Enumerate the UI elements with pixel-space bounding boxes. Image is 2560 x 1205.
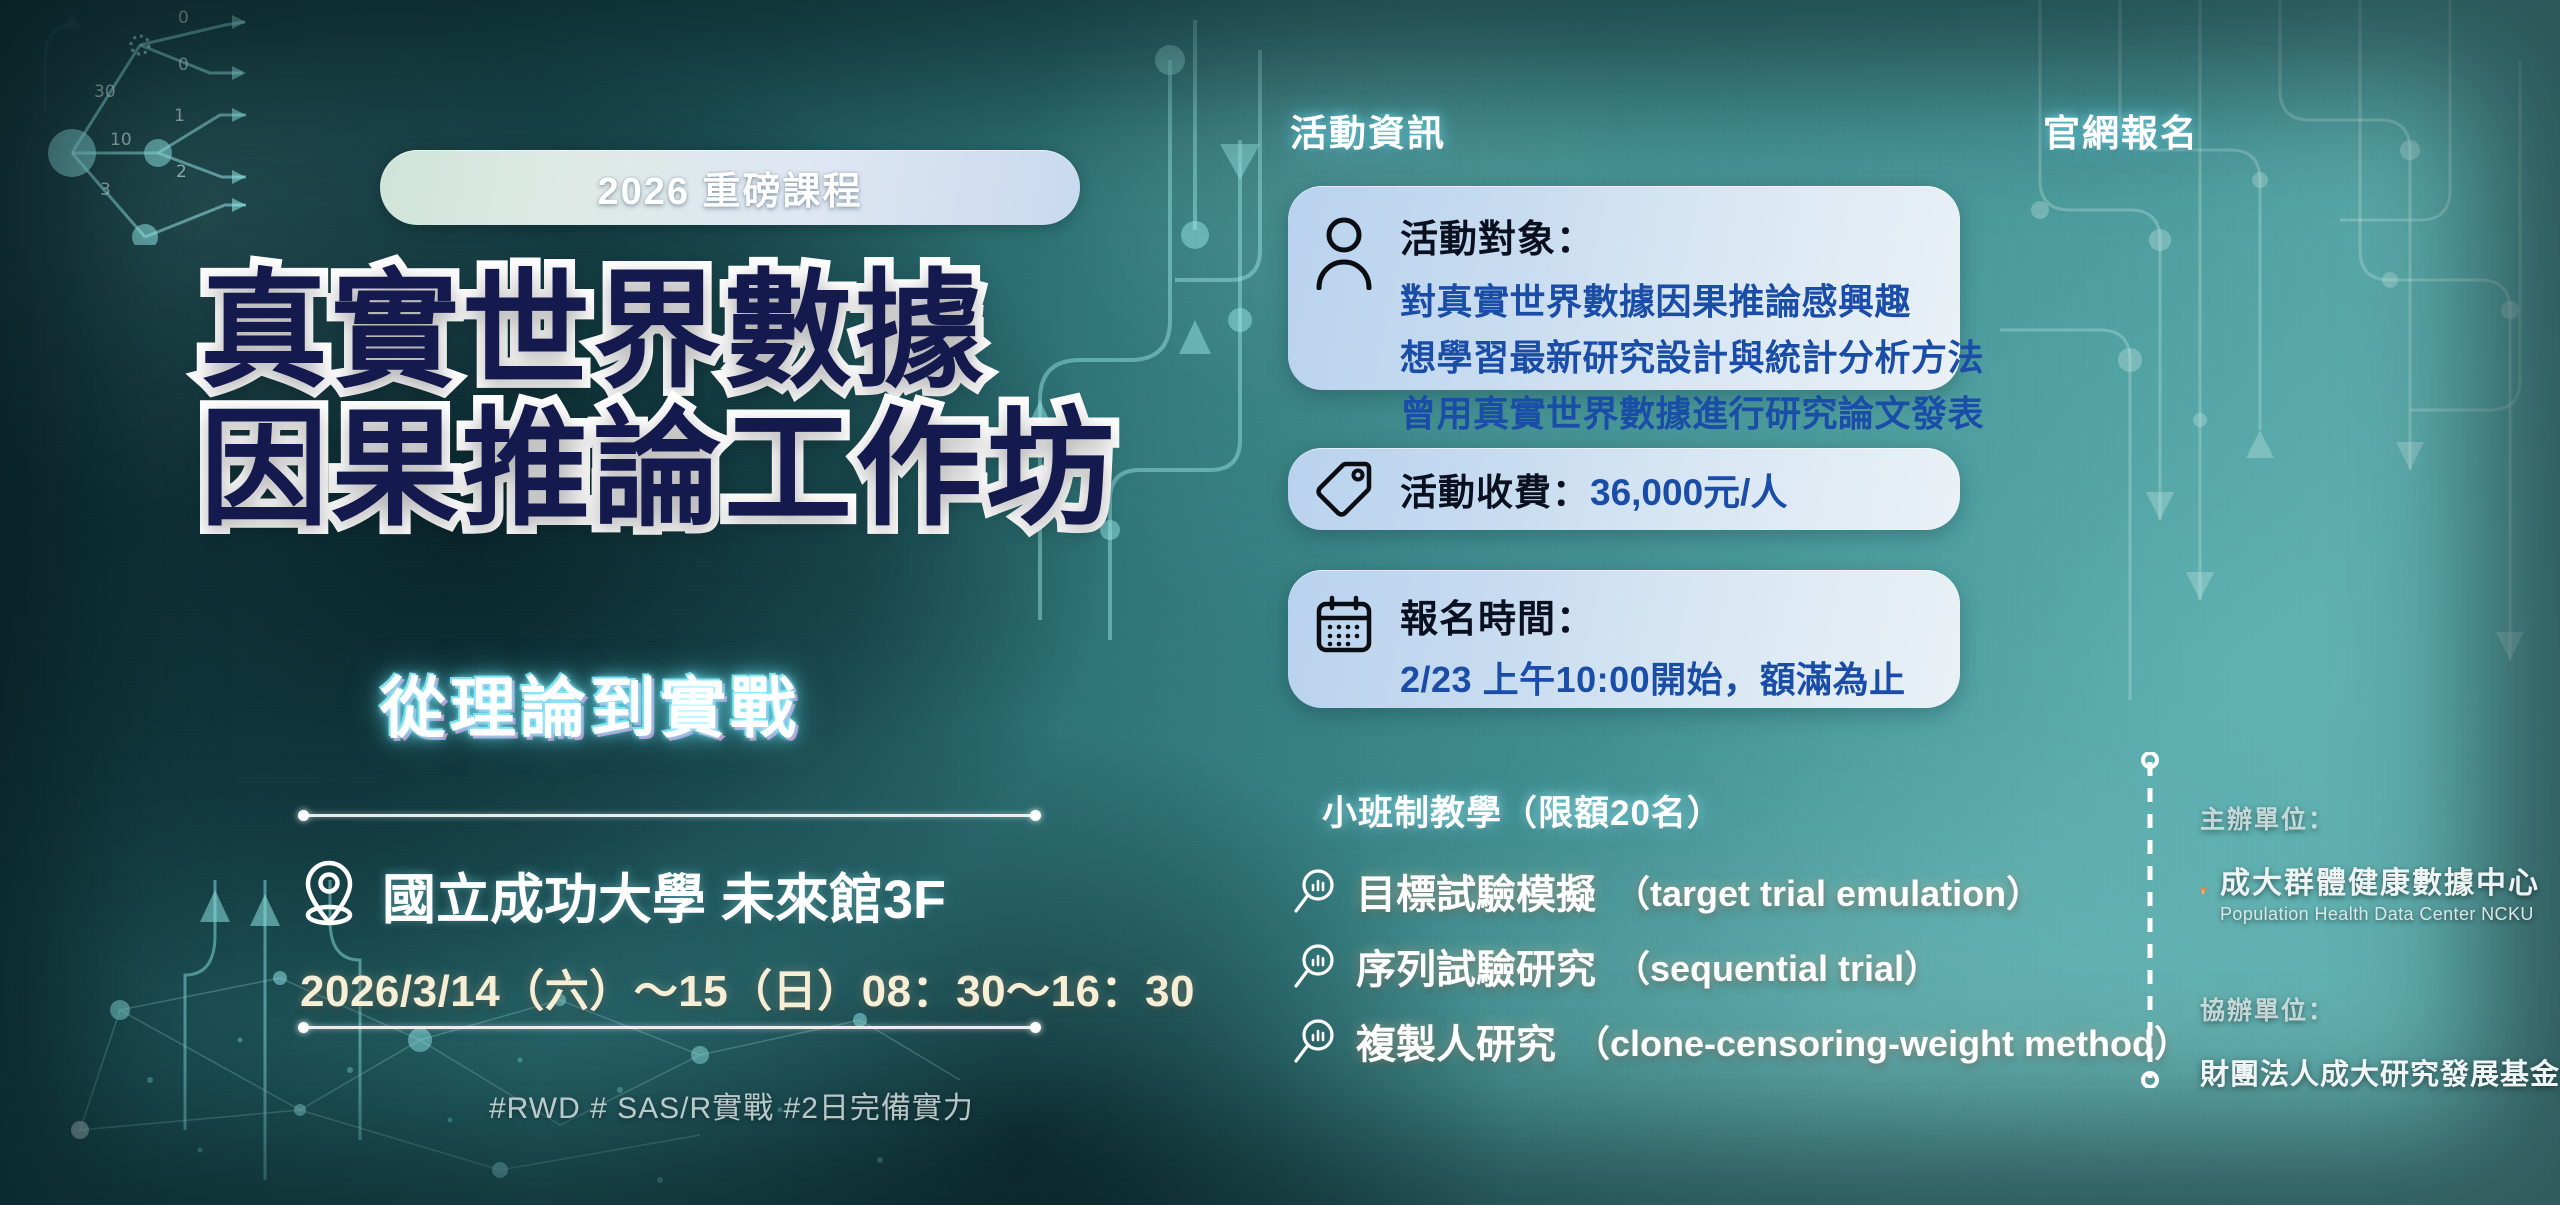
registration-value: 2/23 上午10:00開始，額滿為止 — [1400, 651, 1960, 703]
topic-item: 複製人研究 （clone-censoring-weight method） — [1292, 1012, 2190, 1070]
section-heading-signup: 官網報名 — [2043, 103, 2199, 157]
cohost-name: 財團法人成大研究發展基金會 — [2200, 1051, 2540, 1093]
host-logo: 成大群體健康數據中心 Population Health Data Center… — [2200, 858, 2540, 925]
left-column: 2026 重磅課程 真實世界數據 因果推論工作坊 從理論到實戰 國立成功大學 未… — [0, 0, 1180, 1205]
poster-title: 真實世界數據 因果推論工作坊 — [200, 270, 1180, 532]
section-heading-info: 活動資訊 — [1290, 103, 1446, 157]
poster-subtitle: 從理論到實戰 — [380, 655, 800, 751]
topic-en: （target trial emulation） — [1614, 865, 2042, 917]
venue-label: 國立成功大學 未來館3F — [382, 855, 946, 934]
registration-card: 報名時間： 2/23 上午10:00開始，額滿為止 — [1288, 570, 1960, 708]
hashtags-label: #RWD # SAS/R實戰 #2日完備實力 — [489, 1083, 974, 1127]
location-pin-icon — [300, 859, 358, 931]
audience-line-2: 想學習最新研究設計與統計分析方法 — [1400, 329, 1984, 381]
audience-line-3: 曾用真實世界數據進行研究論文發表 — [1400, 385, 1984, 437]
audience-card-title: 活動對象： — [1400, 208, 1984, 263]
fee-card-body: 活動收費： 36,000元/人 — [1400, 462, 1960, 516]
title-line-2: 因果推論工作坊 — [200, 408, 1180, 532]
host-label: 主辦單位： — [2200, 800, 2540, 836]
topic-en: （clone-censoring-weight method） — [1574, 1015, 2190, 1067]
fee-label: 活動收費： — [1400, 462, 1590, 516]
divider-top — [303, 814, 1036, 817]
datetime-label: 2026/3/14（六）～15（日）08：30～16：30 — [300, 955, 1195, 1019]
audience-card: 活動對象： 對真實世界數據因果推論感興趣 想學習最新研究設計與統計分析方法 曾用… — [1288, 186, 1960, 390]
topic-zh: 複製人研究 — [1356, 1012, 1556, 1070]
magnifier-chart-icon — [1292, 1017, 1338, 1065]
audience-card-body: 活動對象： 對真實世界數據因果推論感興趣 想學習最新研究設計與統計分析方法 曾用… — [1400, 208, 1984, 441]
registration-card-body: 報名時間： 2/23 上午10:00開始，額滿為止 — [1400, 588, 1960, 703]
registration-title: 報名時間： — [1400, 588, 1960, 643]
dashed-vertical-divider — [2140, 752, 2160, 1088]
magnifier-chart-icon — [1292, 867, 1338, 915]
course-badge-label: 2026 重磅課程 — [597, 160, 862, 215]
calendar-icon — [1315, 594, 1373, 654]
topic-en: （sequential trial） — [1614, 940, 1940, 992]
host-logo-text: 成大群體健康數據中心 Population Health Data Center… — [2220, 858, 2540, 925]
fee-card: 活動收費： 36,000元/人 — [1288, 448, 1960, 530]
cohost-label: 協辦單位： — [2200, 991, 2540, 1027]
venue-row: 國立成功大學 未來館3F — [300, 855, 946, 934]
topic-zh: 序列試驗研究 — [1356, 937, 1596, 995]
host-logo-zh: 成大群體健康數據中心 — [2220, 858, 2540, 902]
audience-line-1: 對真實世界數據因果推論感興趣 — [1400, 273, 1984, 325]
class-size-label: 小班制教學（限額20名） — [1322, 785, 1723, 836]
topic-zh: 目標試驗模擬 — [1356, 862, 1596, 920]
organizers-block: 主辦單位： 成大群體健康數據中心 Population Health Data … — [2200, 800, 2540, 1093]
course-badge: 2026 重磅課程 — [380, 150, 1080, 225]
person-icon — [1314, 216, 1374, 290]
price-tag-icon — [1315, 460, 1373, 518]
divider-bottom — [303, 1026, 1036, 1029]
phdc-logo-icon — [2200, 860, 2208, 924]
price-tag-icon-slot — [1288, 460, 1400, 518]
topic-item: 目標試驗模擬 （target trial emulation） — [1292, 862, 2042, 920]
title-line-1: 真實世界數據 — [200, 270, 1180, 394]
magnifier-chart-icon — [1292, 942, 1338, 990]
calendar-icon-slot — [1288, 588, 1400, 654]
fee-value: 36,000元/人 — [1590, 462, 1787, 516]
person-icon-slot — [1288, 208, 1400, 290]
host-logo-en: Population Health Data Center NCKU — [2220, 904, 2540, 925]
topic-item: 序列試驗研究 （sequential trial） — [1292, 937, 1940, 995]
poster-canvas: 30 10 3 0 0 1 2 — [0, 0, 2560, 1205]
